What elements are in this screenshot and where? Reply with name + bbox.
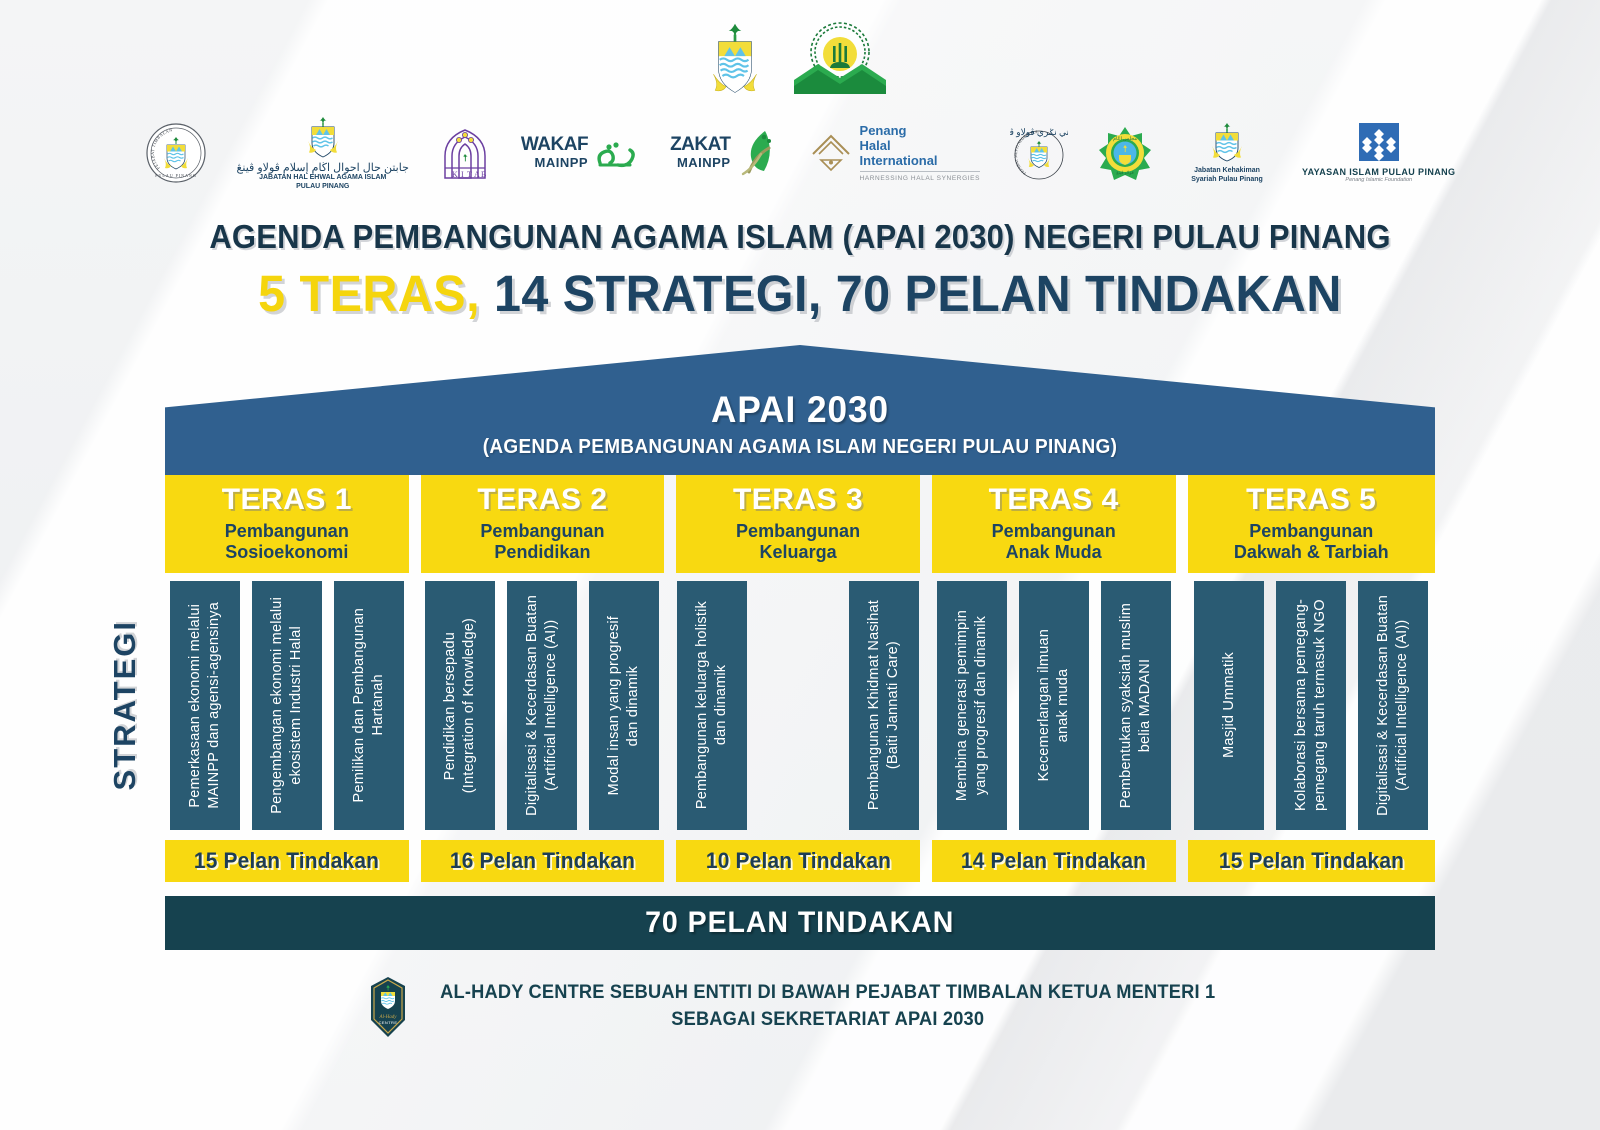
pelan-tindakan-bar-3[interactable]: 10 Pelan Tindakan <box>676 840 920 882</box>
svg-text:مفتي نݢري ڤولاو ڤينڠ: مفتي نݢري ڤولاو ڤينڠ <box>1010 127 1068 138</box>
teras-subtitle-5: PembangunanDakwah & Tarbiah <box>1194 521 1430 562</box>
teras-columns: TERAS 1PembangunanSosioekonomiPemerkasaa… <box>165 475 1435 882</box>
phi-mark-icon <box>809 132 853 174</box>
teras-column-5[interactable]: TERAS 5PembangunanDakwah & TarbiahMasjid… <box>1188 475 1436 882</box>
jabatan-agama-star-logo: مجلس اݢام ڤولاو ڤينڠ <box>1098 126 1152 180</box>
teras-header-5[interactable]: TERAS 5PembangunanDakwah & Tarbiah <box>1188 475 1436 573</box>
strategy-label-4-2: Kecemerlangan ilmuan anak muda <box>1035 629 1073 781</box>
footer-text: AL-HADY CENTRE SEBUAH ENTITI DI BAWAH PE… <box>424 980 1231 1033</box>
strategy-pillar-3-3[interactable]: Pembangunan Khidmat Nasihat (Baiti Janna… <box>849 581 919 830</box>
teras-column-1[interactable]: TERAS 1PembangunanSosioekonomiPemerkasaa… <box>165 475 409 882</box>
teras-title-1: TERAS 1 <box>171 483 403 517</box>
pelan-tindakan-bar-2[interactable]: 16 Pelan Tindakan <box>421 840 665 882</box>
pelan-tindakan-bar-4[interactable]: 14 Pelan Tindakan <box>932 840 1176 882</box>
teras-subtitle-1: PembangunanSosioekonomi <box>171 521 403 562</box>
strategy-pillar-4-2[interactable]: Kecemerlangan ilmuan anak muda <box>1019 581 1089 830</box>
strategy-pillar-1-3[interactable]: Pemilikan dan Pembangunan Hartanah <box>334 581 404 830</box>
pillar-spacer <box>759 581 837 830</box>
ptkm-seal-icon: PEJABAT TIMBALAN KETUA MENTERI (I) PULAU… <box>145 122 207 184</box>
strategy-label-1-3: Pemilikan dan Pembangunan Hartanah <box>350 608 388 802</box>
jheaipp-crest-icon <box>306 115 340 161</box>
wakaf-label: WAKAF <box>521 136 588 154</box>
teras-column-4[interactable]: TERAS 4PembangunanAnak MudaMembina gener… <box>932 475 1176 882</box>
svg-text:مجلس اݢام: مجلس اݢام <box>1113 136 1137 142</box>
teras-column-3[interactable]: TERAS 3PembangunanKeluargaPembangunan ke… <box>676 475 920 882</box>
zakat-label: ZAKAT <box>670 136 730 154</box>
pelan-tindakan-bar-5[interactable]: 15 Pelan Tindakan <box>1188 840 1436 882</box>
footer: Al-Hady CENTRE AL-HADY CENTRE SEBUAH ENT… <box>0 976 1600 1038</box>
strategy-label-4-1: Membina generasi pemimpin yang progresif… <box>953 610 991 801</box>
page-subtitle: 5 TERAS, 14 STRATEGI, 70 PELAN TINDAKAN <box>40 264 1560 323</box>
subtitle-part-strategi: 14 STRATEGI, 70 PELAN TINDAKAN <box>494 265 1342 322</box>
teras-header-3[interactable]: TERAS 3PembangunanKeluarga <box>676 475 920 573</box>
strategy-pillars-teras-3: Pembangunan keluarga holistik dan dinami… <box>676 573 920 830</box>
strategy-label-5-2: Kolaborasi bersama pemegang- pemegang ta… <box>1292 599 1330 811</box>
strategi-axis-label: STRATEGI <box>107 555 143 855</box>
pelan-tindakan-count-1: 15 Pelan Tindakan <box>194 848 379 874</box>
strategy-label-5-1: Masjid Ummatik <box>1220 652 1239 758</box>
svg-text:K: K <box>452 170 458 179</box>
strategy-label-2-2: Digitalisasi & Kecerdasan Buatan (Artifi… <box>523 595 561 816</box>
strategy-label-1-2: Pengembangan ekonomi melalui ekosistem I… <box>268 597 306 814</box>
yipp-label: YAYASAN ISLAM PULAU PINANG <box>1302 167 1455 177</box>
svg-text:I: I <box>461 170 464 179</box>
infographic-page: PEJABAT TIMBALAN KETUA MENTERI (I) PULAU… <box>0 0 1600 1130</box>
jheaipp-arabic-label: جابتن حال احوال اڬام إسلام ڤولاو ڤينڠ <box>237 161 409 174</box>
kitab-icon: K I T A B <box>439 124 491 182</box>
wakaf-sublabel: MAINPP <box>521 155 588 170</box>
teras-subtitle-4: PembangunanAnak Muda <box>938 521 1170 562</box>
yipp-mark-icon <box>1356 123 1402 167</box>
jksy-crest-icon <box>1209 121 1245 167</box>
title-block: AGENDA PEMBANGUNAN AGAMA ISLAM (APAI 203… <box>0 218 1600 323</box>
pelan-tindakan-count-2: 16 Pelan Tindakan <box>450 848 635 874</box>
pediment: APAI 2030 (AGENDA PEMBANGUNAN AGAMA ISLA… <box>165 345 1435 475</box>
strategy-label-2-3: Modal insan yang progresif dan dinamik <box>605 616 643 795</box>
strategy-label-4-3: Pembentukan syaksiah muslim belia MADANI <box>1117 603 1155 808</box>
svg-text:A: A <box>474 170 480 179</box>
jksy-label: Jabatan Kehakiman Syariah Pulau Pinang <box>1182 167 1272 185</box>
strategi-axis-text: STRATEGI <box>107 620 143 790</box>
yipp-sublabel: Penang Islamic Foundation <box>1345 177 1412 183</box>
teras-header-1[interactable]: TERAS 1PembangunanSosioekonomi <box>165 475 409 573</box>
penang-state-crest-logo <box>708 20 762 96</box>
svg-text:CENTRE: CENTRE <box>379 1020 398 1025</box>
footer-line-2: SEBAGAI SEKRETARIAT APAI 2030 <box>440 1007 1215 1034</box>
teras-header-4[interactable]: TERAS 4PembangunanAnak Muda <box>932 475 1176 573</box>
teras-subtitle-2: PembangunanPendidikan <box>427 521 659 562</box>
mainpp-icon <box>788 20 892 96</box>
strategy-pillar-4-1[interactable]: Membina generasi pemimpin yang progresif… <box>937 581 1007 830</box>
agama-star-icon: مجلس اݢام ڤولاو ڤينڠ <box>1098 126 1152 180</box>
strategy-pillar-2-1[interactable]: Pendidikan bersepadu (Integration of Kno… <box>425 581 495 830</box>
teras-title-3: TERAS 3 <box>682 483 914 517</box>
pediment-subtitle: (AGENDA PEMBANGUNAN AGAMA ISLAM NEGERI P… <box>197 436 1404 459</box>
strategy-pillar-5-1[interactable]: Masjid Ummatik <box>1194 581 1264 830</box>
teras-header-2[interactable]: TERAS 2PembangunanPendidikan <box>421 475 665 573</box>
pelan-tindakan-count-4: 14 Pelan Tindakan <box>961 848 1146 874</box>
teras-subtitle-3: PembangunanKeluarga <box>682 521 914 562</box>
wakaf-mainpp-logo: WAKAF MAINPP <box>521 129 640 177</box>
mufti-seal-icon: PEJABAT MUFTI NEGERI PULAU PINANG مفتي ن… <box>1010 125 1068 181</box>
strategy-label-2-1: Pendidikan bersepadu (Integration of Kno… <box>441 618 479 793</box>
total-pelan-tindakan-bar: 70 PELAN TINDAKAN <box>165 896 1435 950</box>
partner-logo-row: PEJABAT TIMBALAN KETUA MENTERI (I) PULAU… <box>0 114 1600 192</box>
mainpp-islamic-council-logo <box>788 20 892 96</box>
zakat-mainpp-logo: ZAKAT MAINPP <box>670 128 778 178</box>
strategy-pillars-teras-1: Pemerkasaan ekonomi melalui MAINPP dan a… <box>165 573 409 830</box>
jheaipp-label: JABATAN HAL EHWAL AGAMA ISLAM PULAU PINA… <box>258 174 388 192</box>
teras-title-4: TERAS 4 <box>938 483 1170 517</box>
phi-label: PenangHalalInternational <box>860 124 980 169</box>
strategy-label-1-1: Pemerkasaan ekonomi melalui MAINPP dan a… <box>186 602 224 809</box>
pelan-tindakan-count-3: 10 Pelan Tindakan <box>705 848 890 874</box>
footer-line-1: AL-HADY CENTRE SEBUAH ENTITI DI BAWAH PE… <box>440 980 1215 1007</box>
total-pelan-tindakan-text: 70 PELAN TINDAKAN <box>645 906 954 940</box>
pejabat-timbalan-ketua-menteri-logo: PEJABAT TIMBALAN KETUA MENTERI (I) PULAU… <box>145 122 207 184</box>
pelan-tindakan-bar-1[interactable]: 15 Pelan Tindakan <box>165 840 409 882</box>
page-title: AGENDA PEMBANGUNAN AGAMA ISLAM (APAI 203… <box>48 218 1552 256</box>
pelan-tindakan-count-5: 15 Pelan Tindakan <box>1219 848 1404 874</box>
strategy-pillar-4-3[interactable]: Pembentukan syaksiah muslim belia MADANI <box>1101 581 1171 830</box>
kitab-logo: K I T A B <box>439 124 491 182</box>
penang-crest-icon <box>708 20 762 96</box>
zakat-leaf-icon <box>735 128 779 178</box>
penang-halal-international-logo: PenangHalalInternational HARNESSING HALA… <box>809 124 980 182</box>
strategy-pillar-2-3[interactable]: Modal insan yang progresif dan dinamik <box>589 581 659 830</box>
teras-title-2: TERAS 2 <box>427 483 659 517</box>
strategy-pillar-5-2[interactable]: Kolaborasi bersama pemegang- pemegang ta… <box>1276 581 1346 830</box>
zakat-sublabel: MAINPP <box>670 155 730 170</box>
strategy-pillar-1-1[interactable]: Pemerkasaan ekonomi melalui MAINPP dan a… <box>170 581 240 830</box>
strategy-pillar-2-2[interactable]: Digitalisasi & Kecerdasan Buatan (Artifi… <box>507 581 577 830</box>
svg-text:T: T <box>467 170 472 179</box>
strategy-pillars-teras-5: Masjid UmmatikKolaborasi bersama pemegan… <box>1188 573 1436 830</box>
strategy-label-5-3: Digitalisasi & Kecerdasan Buatan (Artifi… <box>1374 595 1412 816</box>
pejabat-mufti-logo: PEJABAT MUFTI NEGERI PULAU PINANG مفتي ن… <box>1010 125 1068 181</box>
svg-text:B: B <box>481 170 486 179</box>
teras-title-5: TERAS 5 <box>1194 483 1430 517</box>
yayasan-islam-pulau-pinang-logo: YAYASAN ISLAM PULAU PINANG Penang Islami… <box>1302 123 1455 183</box>
pediment-title: APAI 2030 <box>197 389 1404 431</box>
strategy-label-3-1: Pembangunan keluarga holistik dan dinami… <box>693 601 731 809</box>
temple-diagram: APAI 2030 (AGENDA PEMBANGUNAN AGAMA ISLA… <box>0 345 1600 950</box>
top-logo-row <box>0 0 1600 96</box>
strategy-pillar-1-2[interactable]: Pengembangan ekonomi melalui ekosistem I… <box>252 581 322 830</box>
svg-text:PULAU PINANG: PULAU PINANG <box>155 173 196 178</box>
strategy-pillars-teras-2: Pendidikan bersepadu (Integration of Kno… <box>421 573 665 830</box>
strategy-pillar-3-1[interactable]: Pembangunan keluarga holistik dan dinami… <box>677 581 747 830</box>
wakaf-arabic-icon <box>592 129 640 177</box>
teras-column-2[interactable]: TERAS 2PembangunanPendidikanPendidikan b… <box>421 475 665 882</box>
al-hady-centre-logo: Al-Hady CENTRE <box>368 976 408 1038</box>
strategy-pillars-teras-4: Membina generasi pemimpin yang progresif… <box>932 573 1176 830</box>
temple-body: STRATEGI TERAS 1PembangunanSosioekonomiP… <box>165 475 1435 882</box>
strategy-label-3-3: Pembangunan Khidmat Nasihat (Baiti Janna… <box>865 600 903 810</box>
strategy-pillar-5-3[interactable]: Digitalisasi & Kecerdasan Buatan (Artifi… <box>1358 581 1428 830</box>
phi-sublabel: HARNESSING HALAL SYNERGIES <box>860 175 980 182</box>
subtitle-part-teras: 5 TERAS, <box>258 265 480 322</box>
jabatan-kehakiman-syariah-logo: Jabatan Kehakiman Syariah Pulau Pinang <box>1182 121 1272 185</box>
jheaipp-logo: جابتن حال احوال اڬام إسلام ڤولاو ڤينڠ JA… <box>237 115 409 192</box>
